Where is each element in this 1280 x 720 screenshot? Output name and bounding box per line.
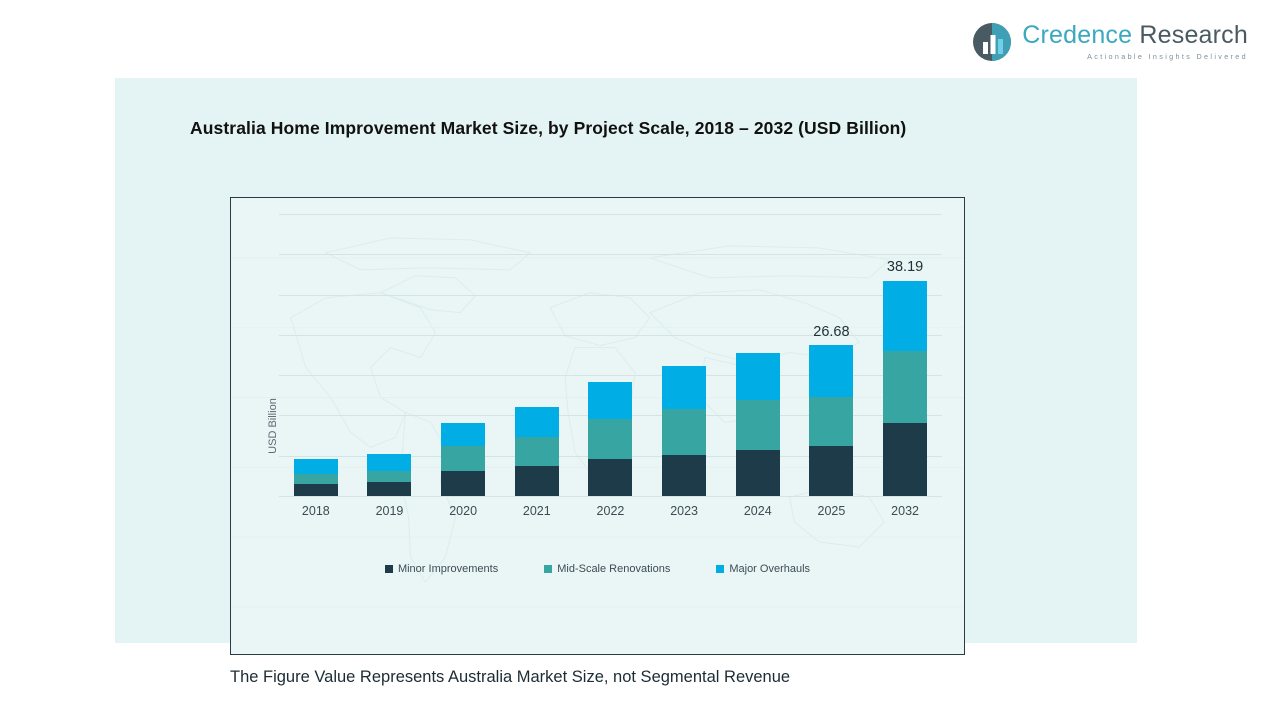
legend-label: Mid-Scale Renovations xyxy=(557,563,670,575)
bar-segment[interactable] xyxy=(441,471,485,496)
infographic-panel: Australia Home Improvement Market Size, … xyxy=(115,78,1137,643)
bar-segment[interactable] xyxy=(736,450,780,496)
legend-item-0[interactable]: Minor Improvements xyxy=(385,563,498,575)
legend-item-2[interactable]: Major Overhauls xyxy=(716,563,810,575)
legend-label: Minor Improvements xyxy=(398,563,498,575)
chart-plot-area: 26.6838.19 xyxy=(279,214,942,496)
x-axis-tick-2032: 2032 xyxy=(883,504,927,518)
bar-segment[interactable] xyxy=(515,437,559,466)
y-axis-title: USD Billion xyxy=(267,398,279,454)
bar-segment[interactable] xyxy=(294,474,338,484)
bar-segment[interactable] xyxy=(662,455,706,496)
bar-series-container: 26.6838.19 xyxy=(279,214,942,496)
bar-segment[interactable] xyxy=(883,281,927,352)
x-axis-tick-2020: 2020 xyxy=(441,504,485,518)
chart-title: Australia Home Improvement Market Size, … xyxy=(190,118,906,139)
bar-segment[interactable] xyxy=(515,407,559,437)
bar-group-2019[interactable] xyxy=(367,214,411,496)
x-axis-labels: 201820192020202120222023202420252032 xyxy=(279,504,942,518)
x-axis-tick-2023: 2023 xyxy=(662,504,706,518)
bar-segment[interactable] xyxy=(294,459,338,474)
bar-group-2020[interactable] xyxy=(441,214,485,496)
bar-segment[interactable] xyxy=(441,446,485,470)
brand-text: Credence Research Actionable Insights De… xyxy=(1022,23,1248,60)
bar-segment[interactable] xyxy=(515,466,559,496)
bar-segment[interactable] xyxy=(367,482,411,496)
bar-segment[interactable] xyxy=(883,423,927,496)
chart-footnote: The Figure Value Represents Australia Ma… xyxy=(230,668,790,687)
brand-logo: Credence Research Actionable Insights De… xyxy=(972,22,1248,62)
bar-segment[interactable] xyxy=(662,409,706,455)
brand-tagline: Actionable Insights Delivered xyxy=(1022,53,1248,60)
x-axis-tick-2025: 2025 xyxy=(809,504,853,518)
chart-plot-frame: USD Billion 26.6838.19 20182019202020212… xyxy=(230,197,965,655)
legend-swatch-icon xyxy=(716,565,724,573)
brand-name-part1: Credence xyxy=(1022,21,1132,49)
bar-group-2022[interactable] xyxy=(588,214,632,496)
bar-value-label: 26.68 xyxy=(813,324,849,340)
legend-label: Major Overhauls xyxy=(729,563,810,575)
x-axis-tick-2019: 2019 xyxy=(367,504,411,518)
bar-segment[interactable] xyxy=(367,454,411,471)
bar-segment[interactable] xyxy=(294,484,338,496)
bar-segment[interactable] xyxy=(736,400,780,451)
bar-segment[interactable] xyxy=(367,471,411,483)
x-axis-tick-2018: 2018 xyxy=(294,504,338,518)
bar-value-label: 38.19 xyxy=(887,259,923,275)
bar-segment[interactable] xyxy=(588,382,632,419)
bar-segment[interactable] xyxy=(588,459,632,496)
x-axis-tick-2024: 2024 xyxy=(736,504,780,518)
bar-segment[interactable] xyxy=(809,397,853,447)
bar-segment[interactable] xyxy=(588,419,632,459)
bar-group-2024[interactable] xyxy=(736,214,780,496)
bar-segment[interactable] xyxy=(441,423,485,446)
bar-group-2018[interactable] xyxy=(294,214,338,496)
x-axis-tick-2022: 2022 xyxy=(588,504,632,518)
bar-segment[interactable] xyxy=(809,345,853,396)
bar-group-2032[interactable]: 38.19 xyxy=(883,214,927,496)
brand-name-part2: Research xyxy=(1139,21,1248,49)
chart-legend: Minor ImprovementsMid-Scale RenovationsM… xyxy=(231,563,964,575)
gridline xyxy=(279,496,942,497)
brand-name: Credence Research xyxy=(1022,23,1248,48)
legend-item-1[interactable]: Mid-Scale Renovations xyxy=(544,563,670,575)
legend-swatch-icon xyxy=(544,565,552,573)
bar-segment[interactable] xyxy=(809,446,853,496)
x-axis-tick-2021: 2021 xyxy=(515,504,559,518)
bar-group-2021[interactable] xyxy=(515,214,559,496)
bar-segment[interactable] xyxy=(736,353,780,400)
bar-segment[interactable] xyxy=(662,366,706,409)
bar-group-2025[interactable]: 26.68 xyxy=(809,214,853,496)
bar-group-2023[interactable] xyxy=(662,214,706,496)
legend-swatch-icon xyxy=(385,565,393,573)
bar-chart-circle-icon xyxy=(972,22,1012,62)
bar-segment[interactable] xyxy=(883,351,927,423)
